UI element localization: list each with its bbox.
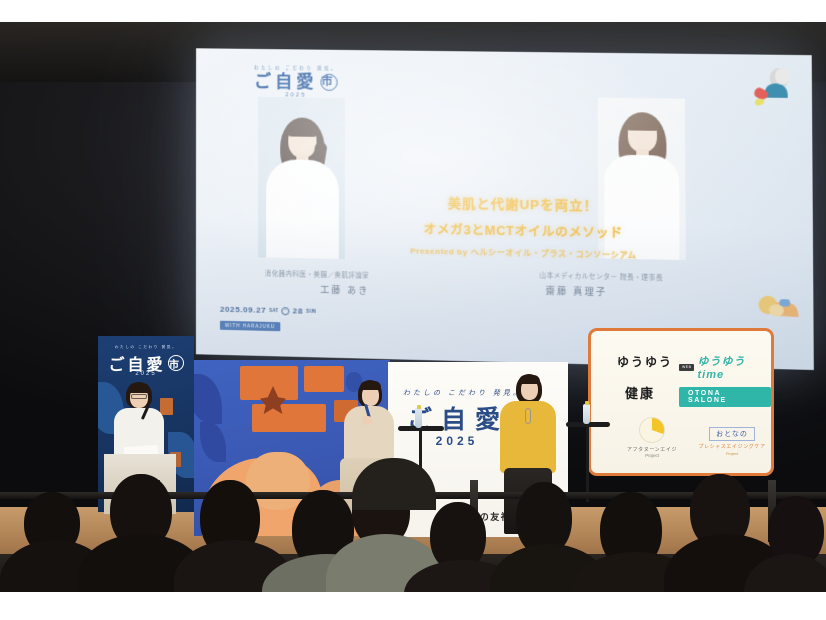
person-fringe [360,381,381,390]
slide-title-block: 美肌と代謝UPを両立！ オメガ3とMCTオイルのメソッド Presented b… [369,191,678,262]
slide-date-day1: SAT [269,308,278,313]
banner-left-badge: 市 [168,355,184,371]
event-photograph: わたしの こだわり 発見。 ご自愛 市 2025 [0,22,826,592]
sponsor-brand-kenko: 健康 [625,383,655,402]
sponsor-project-afternoon-age: アフタヌーンエイジ Project [617,417,687,458]
slide-date-separator: ・ [282,307,290,315]
necklace-icon [525,408,531,424]
person-fringe [519,375,540,384]
slide-logo-badge: 市 [320,74,337,91]
project-afternoon-line2: Project [617,453,687,458]
project-afternoon-line1: アフタヌーンエイジ [617,446,687,453]
slide-presented-by: Presented by ヘルシーオイル・プラス・コンソーシアム [369,245,678,263]
slide-date-day2: SUN [306,309,316,314]
water-bottle-left [415,408,422,428]
slide-logo-title: ご自愛 市 [254,73,338,91]
slide-date-main: 2025.09.27 [220,305,266,315]
project-precious-line1: おとなの [709,427,755,441]
sponsor-brand-yuyutime-text: ゆうゆうtime [697,353,771,381]
sponsor-brand-otona-salone: OTONA SALONE [679,387,771,407]
water-bottle-right [583,404,590,424]
stage-sponsor-board: ゆうゆう WEB ゆうゆうtime 健康 OTONA SALONE アフタヌーン… [588,328,774,476]
sponsor-project-precious-aging: おとなの プレシャスエイジングケア Project [695,423,769,456]
photo-frame: わたしの こだわり 発見。 ご自愛 市 2025 [0,0,826,620]
slide-logo-title-text: ご自愛 [254,73,317,91]
banner-left-year: 2025 [98,371,194,377]
slide-logo-tagline: わたしの こだわり 発見。 [254,65,338,72]
project-precious-line3: Project [695,451,769,456]
slide-speaker-photo-left [258,97,345,259]
person-resting-icon [754,292,803,322]
person-fringe [128,383,150,393]
person-hugging-heart-icon [751,67,795,106]
slide-date-line: 2025.09.27 SAT ・ 28 SUN [220,305,316,316]
slide-caption-left: 消化器内科医・美腸／美肌評論家 工藤 あき [238,267,369,297]
speaker-left-role: 消化器内科医・美腸／美肌評論家 [238,267,369,280]
slide-logo: わたしの こだわり 発見。 ご自愛 市 2025 [254,65,338,99]
banner-left-tagline: わたしの こだわり 発見。 [98,345,194,350]
top-letterbox-bar [0,0,826,22]
backdrop-leaf [200,422,226,462]
slide-caption-right: 山本メディカルセンター 院長・理事長 齋藤 真理子 [539,269,695,300]
stage-side-table-right [566,422,610,502]
speaker-right-name: 齋藤 真理子 [546,284,696,301]
bottom-letterbox-bar [0,592,826,620]
project-pie-icon [639,417,665,443]
table-leg [586,426,589,502]
backdrop-square [252,404,326,432]
portrait-highlight [258,97,345,259]
speaker-left-name: 工藤 あき [238,281,369,297]
project-precious-line2: プレシャスエイジングケア [695,443,769,450]
slide-headline-primary: 美肌と代謝UPを両立！ [369,191,678,216]
slide-headline-secondary: オメガ3とMCTオイルのメソッド [369,217,678,242]
person-hands [362,416,372,425]
speaker-right-role: 山本メディカルセンター 院長・理事長 [539,269,695,283]
backdrop-leaf [194,374,222,424]
sponsor-web-badge: WEB [679,364,694,371]
sponsor-brand-yuyutime: WEB ゆうゆうtime [679,353,771,381]
glasses-icon [131,394,147,399]
slide-date-second: 28 [293,306,303,315]
sponsor-brand-yuyu: ゆうゆう [617,353,673,370]
